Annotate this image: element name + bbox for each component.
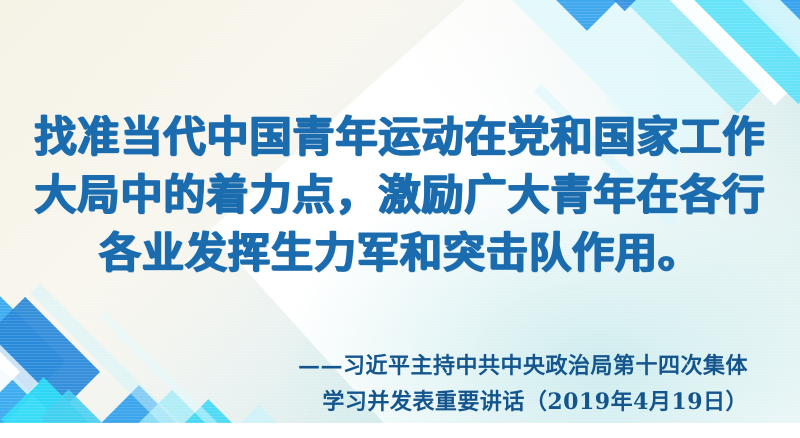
quote-line-1: 找准当代中国青年运动在党和国家工作 (0, 108, 800, 166)
quote-line-2: 大局中的着力点，激励广大青年在各行 (0, 166, 800, 224)
quote-line-3: 各业发挥生力军和突击队作用。 (0, 224, 800, 282)
attribution-line-1: ——习近平主持中共中央政治局第十四次集体 (28, 348, 748, 384)
attribution-block: ——习近平主持中共中央政治局第十四次集体 学习并发表重要讲话（2019年4月19… (28, 348, 748, 420)
footer-white-strip (0, 423, 800, 438)
quote-banner: 找准当代中国青年运动在党和国家工作 大局中的着力点，激励广大青年在各行 各业发挥… (0, 0, 800, 438)
quote-block: 找准当代中国青年运动在党和国家工作 大局中的着力点，激励广大青年在各行 各业发挥… (0, 108, 800, 282)
attribution-line-2: 学习并发表重要讲话（2019年4月19日） (28, 384, 748, 420)
